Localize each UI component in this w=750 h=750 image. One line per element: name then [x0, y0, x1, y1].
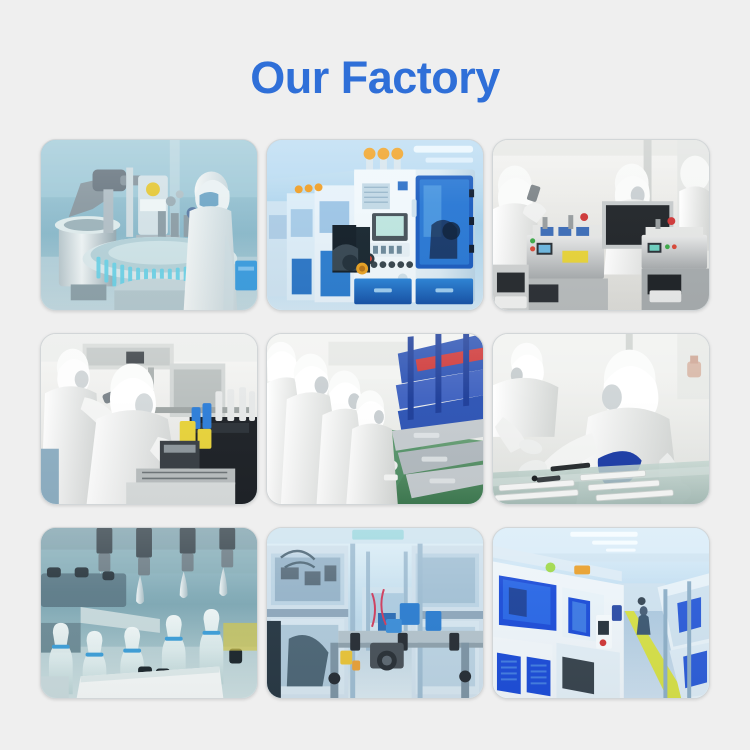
gallery-tile-9[interactable]: Long factory aisle lined with blue semic…: [492, 527, 710, 699]
factory-photo-3: [493, 140, 709, 310]
factory-photo-1: [41, 140, 257, 310]
gallery-tile-5[interactable]: Line of cleanroom workers at a green con…: [266, 333, 484, 505]
factory-photo-4: [41, 334, 257, 504]
page-title: Our Factory: [0, 52, 750, 104]
gallery-tile-1[interactable]: Pharmaceutical filling machine with clea…: [40, 139, 258, 311]
gallery-tile-3[interactable]: Cleanroom technicians at stainless steel…: [492, 139, 710, 311]
factory-photo-7: [41, 528, 257, 698]
factory-gallery-page: Our Factory: [0, 0, 750, 750]
gallery-tile-4[interactable]: Two operators in white bunny suits assem…: [40, 333, 258, 505]
factory-photo-8: [267, 528, 483, 698]
factory-photo-9: [493, 528, 709, 698]
gallery-tile-8[interactable]: Automated assembly line with aluminium f…: [266, 527, 484, 699]
factory-photo-5: [267, 334, 483, 504]
factory-photo-2: [267, 140, 483, 310]
photo-gallery-grid: Pharmaceutical filling machine with clea…: [40, 139, 710, 699]
gallery-tile-7[interactable]: Glass ampoules with blue neck rings on a…: [40, 527, 258, 699]
gallery-tile-2[interactable]: Row of blue and white automated producti…: [266, 139, 484, 311]
gallery-tile-6[interactable]: Operator inspecting white strips on a gl…: [492, 333, 710, 505]
factory-photo-6: [493, 334, 709, 504]
